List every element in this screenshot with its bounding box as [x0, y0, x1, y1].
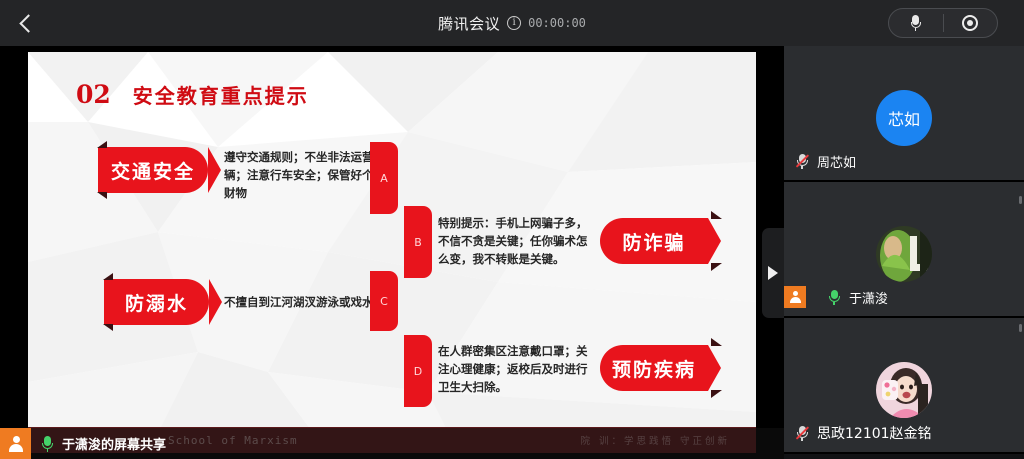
panel-scrollbar[interactable]	[1019, 324, 1022, 332]
banner-label: 防诈骗	[622, 228, 685, 255]
meeting-window: 腾讯会议 i 00:00:00	[0, 0, 1024, 459]
microphone-muted-icon	[796, 425, 808, 441]
expand-panel-arrow-icon	[768, 266, 778, 280]
panel-scrollbar[interactable]	[1019, 196, 1022, 204]
participant-name-row: 思政12101赵金铭	[784, 422, 932, 444]
desc-anti-fraud: 特别提示：手机上网骗子多，不信不贪是关键；任你骗术怎么变，我不转账是关键。	[438, 214, 598, 268]
banner-label: 防溺水	[125, 289, 188, 316]
desc-disease-prevention: 在人群密集区注意戴口罩；关注心理健康；返校后及时进行卫生大扫除。	[438, 342, 598, 396]
avatar	[876, 362, 932, 418]
participant-name: 思政12101赵金铭	[817, 423, 932, 443]
letter-tab-d: D	[404, 335, 432, 407]
back-chevron-icon	[19, 14, 37, 32]
participant-tile[interactable]: 于潇浚	[784, 182, 1024, 318]
panel-expand-handle[interactable]	[762, 228, 784, 318]
meeting-title: 腾讯会议	[438, 13, 500, 34]
avatar	[876, 226, 932, 282]
participant-name: 周芯如	[817, 152, 856, 171]
microphone-icon	[911, 15, 921, 31]
screen-share-bar: 于潇浚的屏幕共享	[0, 428, 784, 459]
microphone-on-icon	[42, 435, 53, 452]
banner-traffic-safety: 交通安全	[98, 147, 208, 193]
banner-label: 交通安全	[111, 157, 195, 184]
microphone-muted-icon	[796, 153, 808, 169]
participant-name-row: 周芯如	[784, 150, 856, 172]
banner-disease-prevention: 预防疾病	[600, 345, 708, 391]
info-icon[interactable]: i	[507, 16, 521, 30]
participants-panel[interactable]: 芯如 周芯如	[784, 46, 1024, 459]
participant-tile[interactable]: 思政12101赵金铭	[784, 318, 1024, 454]
avatar-initials: 芯如	[888, 106, 920, 130]
banner-anti-drowning: 防溺水	[104, 279, 209, 325]
banner-label: 预防疾病	[612, 355, 696, 382]
mic-button[interactable]	[889, 15, 943, 31]
participant-tile[interactable]: 芯如 周芯如	[784, 46, 1024, 182]
record-icon	[962, 15, 978, 31]
participant-name: 于潇浚	[849, 288, 888, 307]
desc-traffic-safety: 遵守交通规则；不坐非法运营车辆；注意行车安全；保管好个人财物	[224, 148, 394, 202]
shared-screen-stage[interactable]: 02 安全教育重点提示 交通安全 遵守交通规则；不坐非法运营车辆；注意行车安全；…	[0, 46, 784, 459]
participant-name-row: 于潇浚	[784, 286, 888, 308]
top-bar: 腾讯会议 i 00:00:00	[0, 0, 1024, 46]
section-number: 02	[76, 80, 111, 109]
presentation-slide: 02 安全教育重点提示 交通安全 遵守交通规则；不坐非法运营车辆；注意行车安全；…	[28, 52, 756, 453]
microphone-on-icon	[828, 289, 840, 305]
meeting-timer: 00:00:00	[528, 16, 586, 30]
audio-video-controls	[888, 8, 998, 38]
letter-tab-c: C	[370, 271, 398, 331]
letter-tab-a: A	[370, 142, 398, 214]
screen-share-person-icon	[784, 286, 806, 308]
screen-share-label: 于潇浚的屏幕共享	[62, 434, 166, 453]
letter-tab-b: B	[404, 206, 432, 278]
avatar: 芯如	[876, 90, 932, 146]
record-button[interactable]	[944, 15, 998, 31]
slide-heading: 02 安全教育重点提示	[76, 80, 309, 109]
section-title: 安全教育重点提示	[133, 80, 309, 109]
title-group: 腾讯会议 i 00:00:00	[0, 0, 1024, 46]
banner-anti-fraud: 防诈骗	[600, 218, 708, 264]
screen-share-person-icon	[0, 428, 31, 459]
back-button[interactable]	[0, 0, 56, 46]
